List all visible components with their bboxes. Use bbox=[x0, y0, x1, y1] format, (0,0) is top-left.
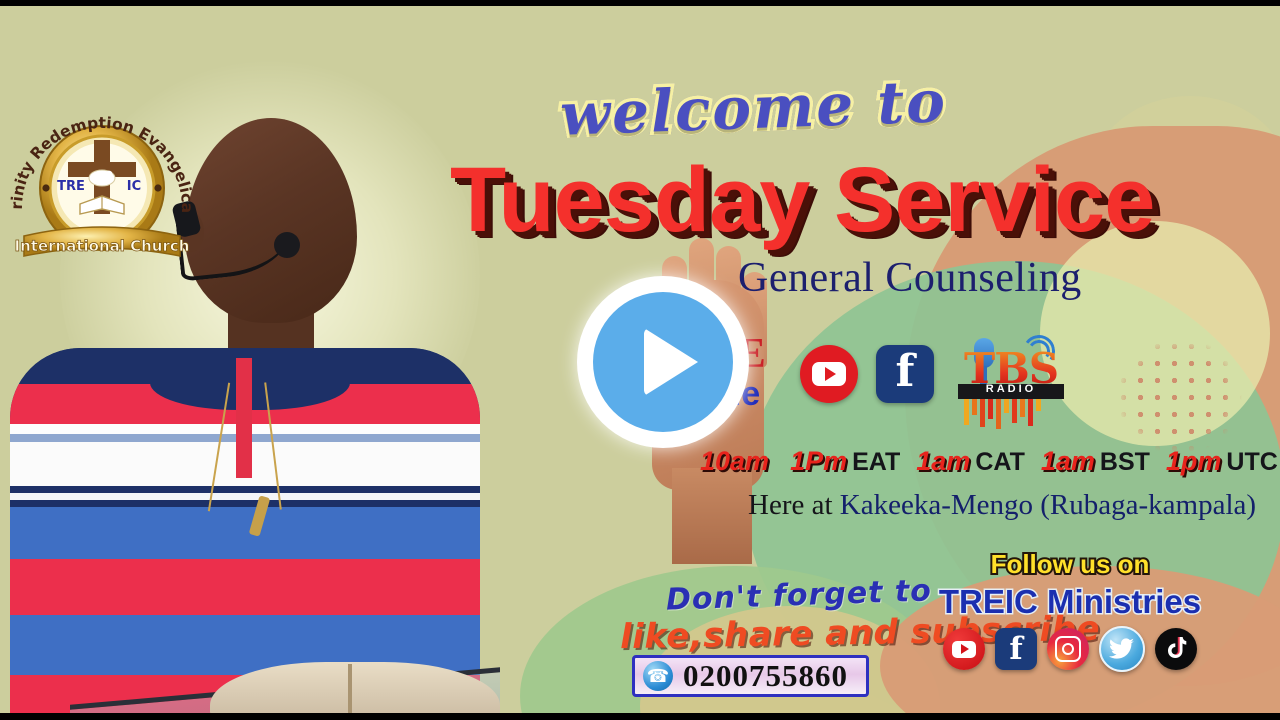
logo-initials-left: TRE bbox=[57, 179, 85, 194]
time-value: 1am bbox=[1041, 446, 1095, 477]
page-subtitle: General Counseling bbox=[738, 254, 1082, 302]
bible-spine bbox=[348, 664, 352, 720]
hand-wrist bbox=[672, 468, 752, 564]
time-value: 1am bbox=[916, 446, 970, 477]
twitter-bird-shape bbox=[1109, 638, 1135, 660]
tiktok-note-shape bbox=[1165, 637, 1187, 661]
equalizer-bars-icon bbox=[964, 399, 1056, 429]
time-zone: BST bbox=[1100, 448, 1150, 477]
time-value: 1Pm bbox=[790, 446, 847, 477]
social-icons-row: f bbox=[943, 626, 1197, 672]
page-title: Tuesday Service bbox=[450, 148, 1154, 253]
youtube-play-body bbox=[812, 362, 846, 386]
play-button[interactable] bbox=[577, 276, 749, 448]
phone-number-box[interactable]: ☎ 0200755860 bbox=[632, 655, 869, 697]
time-zone: EAT bbox=[852, 448, 900, 477]
church-logo: TRE IC Trinity Redemption Evangelical In… bbox=[6, 96, 198, 272]
welcome-text: welcome to bbox=[559, 67, 948, 148]
logo-ribbon-text: International Church bbox=[15, 237, 190, 255]
open-bible bbox=[210, 662, 500, 720]
tiktok-icon[interactable] bbox=[1155, 628, 1197, 670]
youtube-icon[interactable] bbox=[943, 628, 985, 670]
facebook-logo[interactable]: f bbox=[876, 345, 934, 403]
logo-initials-right: IC bbox=[127, 179, 141, 194]
live-platform-icons: f TBS RADIO bbox=[800, 338, 1070, 410]
time-value: 1pm bbox=[1166, 446, 1222, 477]
phone-number: 0200755860 bbox=[683, 658, 848, 694]
letterbox-bottom bbox=[0, 713, 1280, 720]
social-handle: TREIC Ministries bbox=[939, 583, 1201, 621]
stream-thumbnail: TRE IC Trinity Redemption Evangelical In… bbox=[0, 0, 1280, 720]
play-icon bbox=[644, 328, 698, 396]
time-value: 10am bbox=[700, 446, 769, 477]
instagram-camera-shape bbox=[1055, 636, 1081, 662]
headset-mic-windscreen bbox=[274, 232, 300, 258]
venue-prefix: Here at bbox=[748, 489, 840, 521]
preacher-placket bbox=[236, 358, 252, 478]
time-zone: UTC bbox=[1226, 448, 1277, 477]
letterbox-top bbox=[0, 0, 1280, 6]
venue-place: Kakeeka-Mengo (Rubaga-kampala) bbox=[840, 489, 1256, 521]
welcome-label: welcome to bbox=[559, 67, 948, 148]
youtube-play-body bbox=[952, 641, 976, 658]
tbs-radio-logo[interactable]: TBS RADIO bbox=[952, 338, 1070, 410]
time-zone: CAT bbox=[975, 448, 1025, 477]
follow-us-label: Follow us on bbox=[991, 549, 1150, 580]
phone-icon: ☎ bbox=[643, 661, 673, 691]
venue-line: Here at Kakeeka-Mengo (Rubaga-kampala) bbox=[748, 489, 1256, 522]
twitter-icon[interactable] bbox=[1099, 626, 1145, 672]
facebook-icon[interactable]: f bbox=[995, 628, 1037, 670]
service-times-row: 10am 1PmEAT 1amCAT 1amBST 1pmUTC 1amEDT bbox=[700, 446, 1280, 477]
youtube-play-triangle bbox=[825, 367, 836, 381]
youtube-play-triangle bbox=[961, 644, 969, 654]
tbs-radio-sublabel: RADIO bbox=[958, 383, 1064, 395]
instagram-icon[interactable] bbox=[1047, 628, 1089, 670]
play-button-disc bbox=[593, 292, 733, 432]
youtube-logo[interactable] bbox=[800, 345, 858, 403]
